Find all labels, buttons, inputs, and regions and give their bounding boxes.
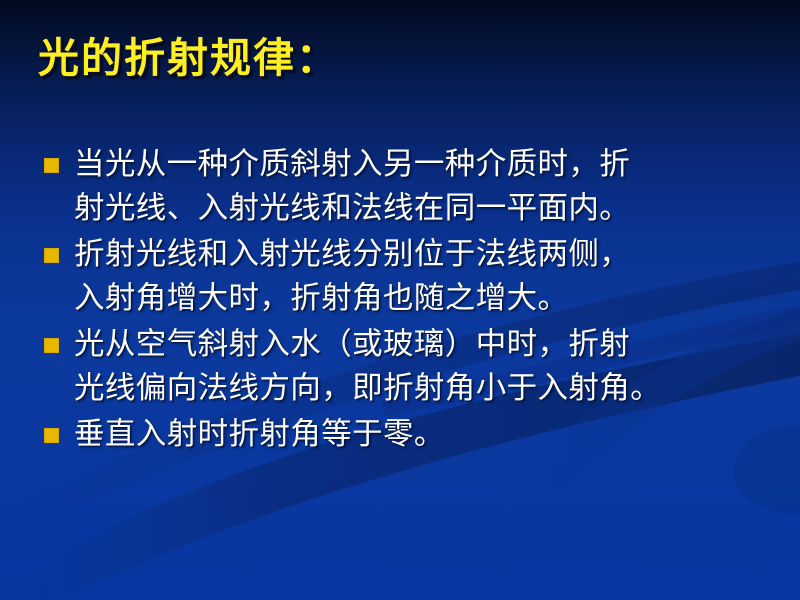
list-item: 垂直入射时折射角等于零。 xyxy=(44,412,770,456)
presentation-slide: 光的折射规律： 当光从一种介质斜射入另一种介质时，折 射光线、入射光线和法线在同… xyxy=(0,0,800,600)
bullet-list: 当光从一种介质斜射入另一种介质时，折 射光线、入射光线和法线在同一平面内。 折射… xyxy=(44,142,770,458)
list-item-text: 光从空气斜射入水（或玻璃）中时，折射 光线偏向法线方向，即折射角小于入射角。 xyxy=(74,322,770,410)
list-item-line: 当光从一种介质斜射入另一种介质时，折 xyxy=(74,142,770,186)
bullet-square-icon xyxy=(44,338,59,353)
list-item-line: 光线偏向法线方向，即折射角小于入射角。 xyxy=(74,366,770,410)
list-item-line: 折射光线和入射光线分别位于法线两侧， xyxy=(74,232,770,276)
list-item-text: 当光从一种介质斜射入另一种介质时，折 射光线、入射光线和法线在同一平面内。 xyxy=(74,142,770,230)
list-item: 光从空气斜射入水（或玻璃）中时，折射 光线偏向法线方向，即折射角小于入射角。 xyxy=(44,322,770,410)
list-item: 折射光线和入射光线分别位于法线两侧， 入射角增大时，折射角也随之增大。 xyxy=(44,232,770,320)
bullet-square-icon xyxy=(44,158,59,173)
list-item: 当光从一种介质斜射入另一种介质时，折 射光线、入射光线和法线在同一平面内。 xyxy=(44,142,770,230)
list-item-text: 垂直入射时折射角等于零。 xyxy=(74,412,770,456)
list-item-line: 射光线、入射光线和法线在同一平面内。 xyxy=(74,186,770,230)
list-item-line: 入射角增大时，折射角也随之增大。 xyxy=(74,276,770,320)
list-item-line: 光从空气斜射入水（或玻璃）中时，折射 xyxy=(74,322,770,366)
list-item-line: 垂直入射时折射角等于零。 xyxy=(74,412,770,456)
bullet-square-icon xyxy=(44,248,59,263)
list-item-text: 折射光线和入射光线分别位于法线两侧， 入射角增大时，折射角也随之增大。 xyxy=(74,232,770,320)
page-title: 光的折射规律： xyxy=(38,36,339,81)
bullet-square-icon xyxy=(44,428,59,443)
